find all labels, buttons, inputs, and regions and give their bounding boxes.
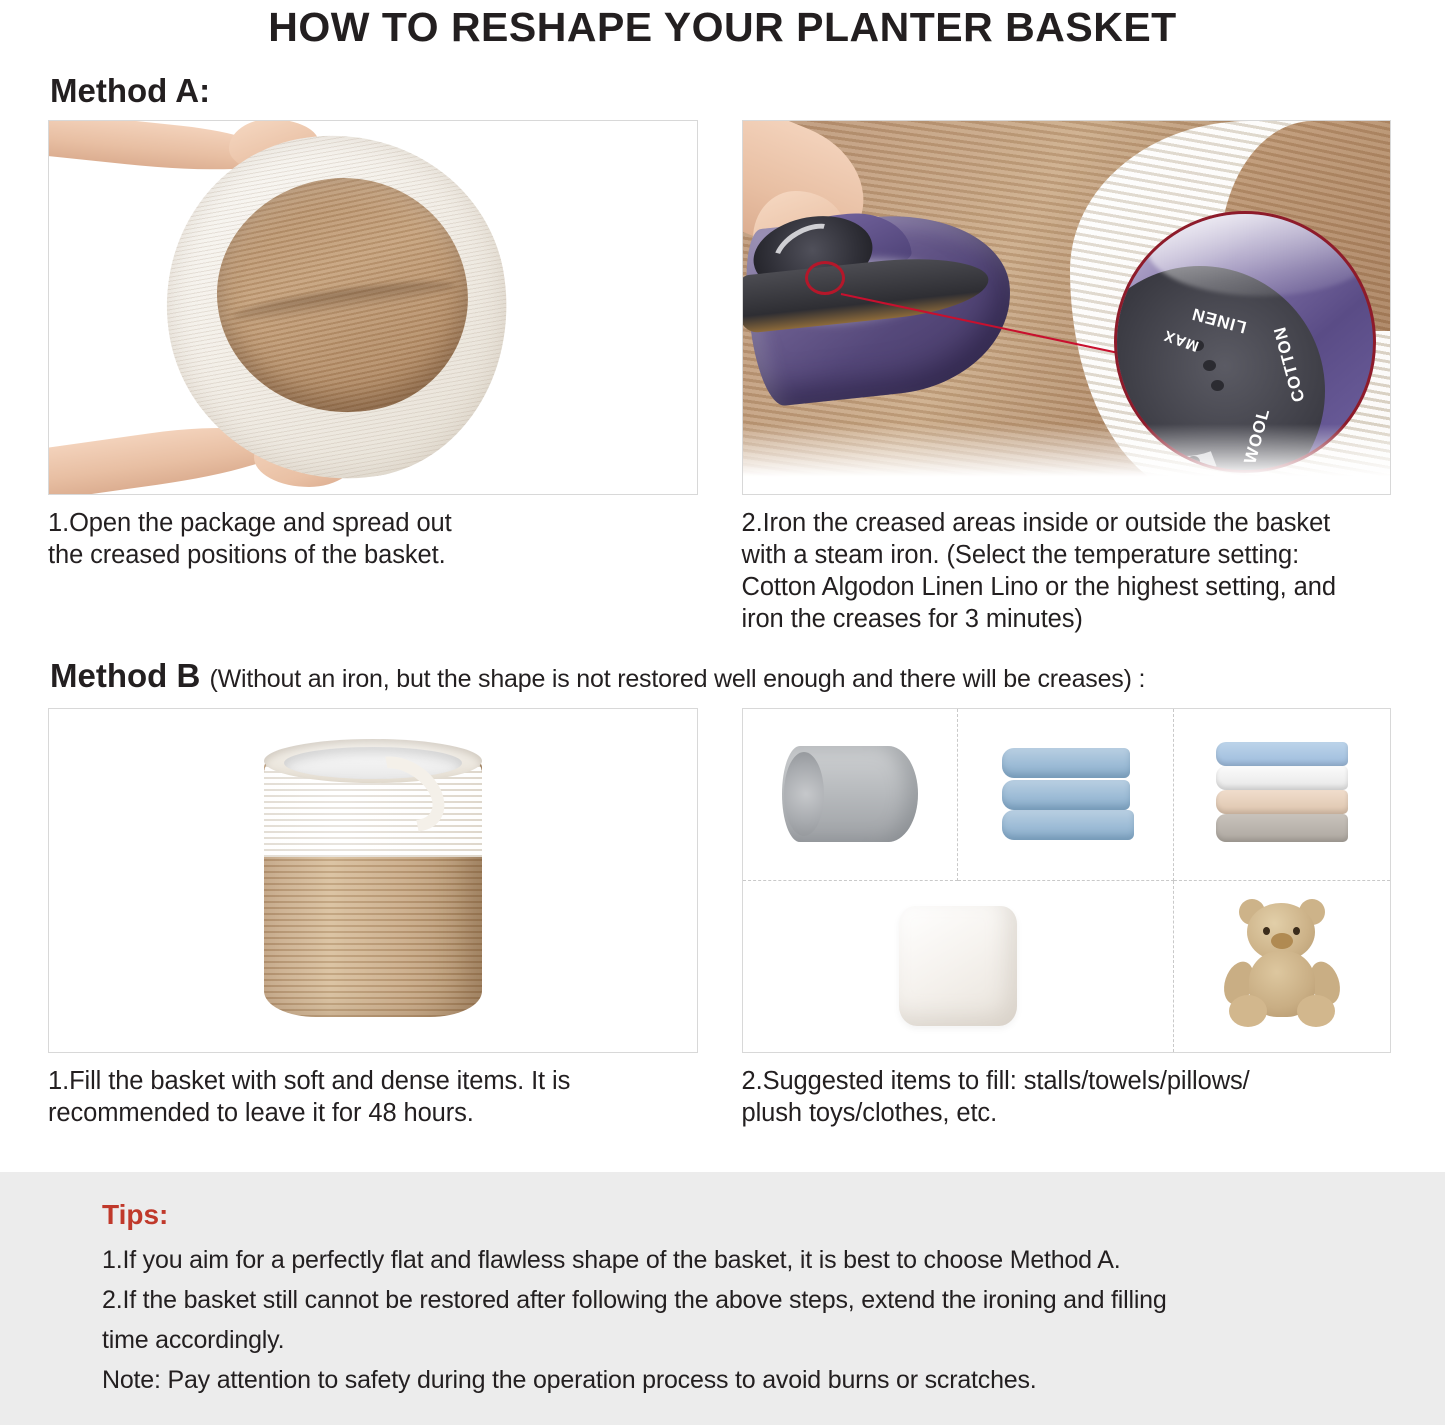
hands-spreading-basket-photo [48,120,698,495]
photo-scene [49,709,697,1052]
upright-rope-basket [264,737,482,1019]
caption-line: 1.Fill the basket with soft and dense it… [48,1065,698,1097]
items-grid [743,709,1391,1052]
item-cell-rolled-blanket [743,709,959,881]
stacked-folded-clothes-icon [1216,742,1348,846]
method-b-photo-row: 1.Fill the basket with soft and dense it… [0,708,1445,1129]
method-a-heading: Method A: [0,50,1445,120]
cloth-layer [1216,790,1348,814]
dial-dot [1211,380,1224,391]
method-b-step-2: 2.Suggested items to fill: stalls/towels… [742,708,1392,1129]
crease-line [232,274,457,327]
tips-line: 1.If you aim for a perfectly flat and fl… [102,1240,1385,1280]
cloth-layer [1216,766,1348,790]
caption-line: 1.Open the package and spread out [48,507,698,539]
method-a-step-2: MAX LINEN COTTON WOOL 2.Iron the creased… [742,120,1392,635]
method-a-step-1-caption: 1.Open the package and spread out the cr… [48,495,698,571]
teddy-bear-icon [1217,903,1347,1029]
method-b-step-1: 1.Fill the basket with soft and dense it… [48,708,698,1129]
method-a-photo-row: 1.Open the package and spread out the cr… [0,120,1445,635]
method-b-step-2-caption: 2.Suggested items to fill: stalls/towels… [742,1053,1392,1129]
caption-line: iron the creases for 3 minutes) [742,603,1392,635]
caption-line: the creased positions of the basket. [48,539,698,571]
basket-interior [202,162,482,430]
caption-line: recommended to leave it for 48 hours. [48,1097,698,1129]
bear-leg-right [1297,995,1335,1027]
method-a-step-2-caption: 2.Iron the creased areas inside or outsi… [742,495,1392,635]
tips-line: Note: Pay attention to safety during the… [102,1360,1385,1400]
tips-line: 2.If the basket still cannot be restored… [102,1280,1385,1320]
page-title: HOW TO RESHAPE YOUR PLANTER BASKET [0,0,1445,50]
photo-bottom-fade [743,424,1391,494]
rolled-grey-blanket-icon [782,746,918,842]
caption-line: plush toys/clothes, etc. [742,1097,1392,1129]
item-cell-pillow [743,881,1175,1053]
folded-blue-towels-icon [1002,748,1130,840]
tips-band: Tips: 1.If you aim for a perfectly flat … [0,1172,1445,1425]
tips-title: Tips: [102,1198,1385,1232]
method-b-heading: Method B (Without an iron, but the shape… [0,635,1445,708]
callout-highlight-ring [805,261,845,295]
suggested-fill-items-grid [742,708,1392,1053]
method-a-heading-label: Method A: [50,72,210,109]
steam-iron-on-basket-photo: MAX LINEN COTTON WOOL [742,120,1392,495]
method-b-heading-label: Method B [50,657,200,694]
caption-line: with a steam iron. (Select the temperatu… [742,539,1392,571]
method-b-heading-note: (Without an iron, but the shape is not r… [209,665,1145,693]
towel-layer [1002,780,1130,810]
cloth-layer [1216,742,1348,766]
dial-dot [1203,360,1216,371]
item-cell-folded-towels [958,709,1174,881]
white-pillow-icon [899,906,1017,1026]
caption-line: 2.Suggested items to fill: stalls/towels… [742,1065,1392,1097]
cloth-layer [1216,814,1348,842]
caption-line: 2.Iron the creased areas inside or outsi… [742,507,1392,539]
upright-rope-basket-photo [48,708,698,1053]
photo-scene [49,121,697,494]
method-b-step-1-caption: 1.Fill the basket with soft and dense it… [48,1053,698,1129]
item-cell-folded-clothes [1174,709,1390,881]
towel-layer [1002,810,1134,840]
item-cell-teddy-bear [1174,881,1390,1053]
bear-leg-left [1229,995,1267,1027]
photo-scene: MAX LINEN COTTON WOOL [743,121,1391,494]
tips-line: time accordingly. [102,1320,1385,1360]
caption-line: Cotton Algodon Linen Lino or the highest… [742,571,1392,603]
method-a-step-1: 1.Open the package and spread out the cr… [48,120,698,571]
towel-layer [1002,748,1130,778]
